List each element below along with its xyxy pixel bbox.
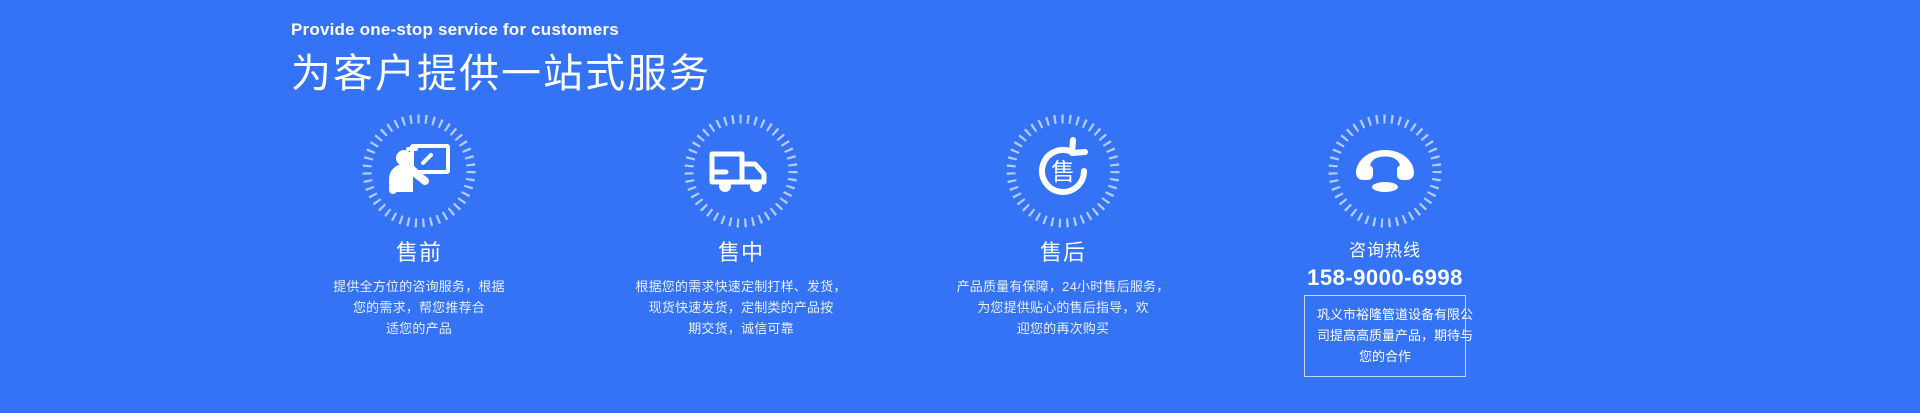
column-title: 售前 (396, 238, 442, 268)
service-banner: Provide one-stop service for customers 为… (0, 0, 1920, 413)
desc-line: 产品质量有保障，24小时售后服务， (933, 276, 1193, 297)
service-column-aftersales[interactable]: 售 售后 产品质量有保障，24小时售后服务， 为您提供贴心的售后指导，欢 迎您的… (902, 112, 1224, 339)
desc-line: 现货快速发货，定制类的产品按 (611, 297, 871, 318)
icon-container-presales (360, 112, 478, 230)
company-info-line: 司提高高质量产品，期待与 (1317, 325, 1453, 346)
desc-line: 提供全方位的咨询服务，根据 (289, 276, 549, 297)
desc-line: 适您的产品 (289, 318, 549, 339)
company-info-line: 巩义市裕隆管道设备有限公 (1317, 304, 1453, 325)
column-description: 提供全方位的咨询服务，根据 您的需求，帮您推荐合 适您的产品 (289, 276, 549, 339)
service-column-insales[interactable]: 售中 根据您的需求快速定制打样、发货， 现货快速发货，定制类的产品按 期交货，诚… (580, 112, 902, 339)
column-description: 根据您的需求快速定制打样、发货， 现货快速发货，定制类的产品按 期交货，诚信可靠 (611, 276, 871, 339)
desc-line: 期交货，诚信可靠 (611, 318, 871, 339)
service-columns: 售前 提供全方位的咨询服务，根据 您的需求，帮您推荐合 适您的产品 (258, 112, 1548, 377)
column-description: 产品质量有保障，24小时售后服务， 为您提供贴心的售后指导，欢 迎您的再次购买 (933, 276, 1193, 339)
icon-container-hotline (1326, 112, 1444, 230)
desc-line: 您的需求，帮您推荐合 (289, 297, 549, 318)
presentation-person-icon (382, 134, 456, 208)
company-info-line: 您的合作 (1317, 346, 1453, 367)
after-sales-arrow-icon: 售 (1026, 134, 1100, 208)
icon-container-insales (682, 112, 800, 230)
service-column-presales[interactable]: 售前 提供全方位的咨询服务，根据 您的需求，帮您推荐合 适您的产品 (258, 112, 580, 339)
desc-line: 为您提供贴心的售后指导，欢 (933, 297, 1193, 318)
desc-line: 迎您的再次购买 (933, 318, 1193, 339)
desc-line: 根据您的需求快速定制打样、发货， (611, 276, 871, 297)
svg-text:售: 售 (1051, 159, 1075, 186)
hotline-phone-number[interactable]: 158-9000-6998 (1307, 264, 1463, 292)
telephone-icon (1348, 134, 1422, 208)
icon-container-aftersales: 售 (1004, 112, 1122, 230)
hotline-label: 咨询热线 (1349, 238, 1421, 264)
header-title-cn: 为客户提供一站式服务 (291, 48, 1191, 100)
service-column-hotline[interactable]: 咨询热线 158-9000-6998 巩义市裕隆管道设备有限公 司提高高质量产品… (1224, 112, 1546, 377)
column-title: 售中 (718, 238, 764, 268)
header-subtitle-en: Provide one-stop service for customers (291, 16, 1191, 44)
delivery-truck-icon (704, 134, 778, 208)
column-title: 售后 (1040, 238, 1086, 268)
banner-header: Provide one-stop service for customers 为… (291, 16, 1191, 100)
company-info-box: 巩义市裕隆管道设备有限公 司提高高质量产品，期待与 您的合作 (1304, 295, 1466, 377)
